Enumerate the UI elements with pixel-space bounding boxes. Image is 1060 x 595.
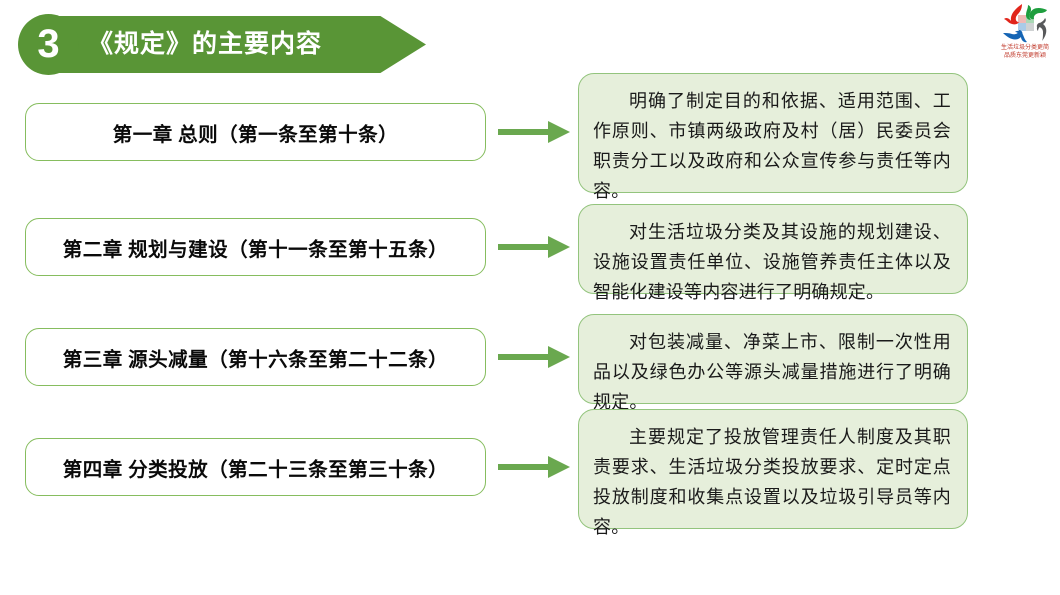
- arrow-head: [548, 456, 570, 478]
- arrow-shaft: [498, 464, 554, 470]
- description-text-3: 对包装减量、净菜上市、限制一次性用品以及绿色办公等源头减量措施进行了明确规定。: [593, 327, 951, 417]
- chapter-box-2[interactable]: 第二章 规划与建设（第十一条至第十五条）: [25, 218, 486, 276]
- description-text-4: 主要规定了投放管理责任人制度及其职责要求、生活垃圾分类投放要求、定时定点投放制度…: [593, 422, 951, 542]
- logo-caption-line2: 品质东莞更新颖: [994, 53, 1056, 61]
- right-arrow-icon-2: [498, 236, 572, 258]
- chapter-box-3[interactable]: 第三章 源头减量（第十六条至第二十二条）: [25, 328, 486, 386]
- right-arrow-icon-3: [498, 346, 572, 368]
- description-box-2: 对生活垃圾分类及其设施的规划建设、设施设置责任单位、设施管养责任主体以及智能化建…: [578, 204, 968, 294]
- arrow-head: [548, 121, 570, 143]
- right-arrow-icon-4: [498, 456, 572, 478]
- banner-title: 《规定》的主要内容: [88, 16, 322, 73]
- chapter-label-1: 第一章 总则（第一条至第十条）: [113, 118, 398, 147]
- description-text-2: 对生活垃圾分类及其设施的规划建设、设施设置责任单位、设施管养责任主体以及智能化建…: [593, 217, 951, 307]
- chapter-label-2: 第二章 规划与建设（第十一条至第十五条）: [63, 233, 448, 262]
- arrow-shaft: [498, 129, 554, 135]
- banner-number: 3: [18, 14, 79, 75]
- description-box-1: 明确了制定目的和依据、适用范围、工作原则、市镇两级政府及村（居）民委员会职责分工…: [578, 73, 968, 193]
- garbage-classification-logo: 生活垃圾分类更简 品质东莞更新颖: [994, 1, 1056, 63]
- description-box-3: 对包装减量、净菜上市、限制一次性用品以及绿色办公等源头减量措施进行了明确规定。: [578, 314, 968, 404]
- arrow-head: [548, 236, 570, 258]
- arrow-shaft: [498, 354, 554, 360]
- right-arrow-icon-1: [498, 121, 572, 143]
- section-banner: 3 《规定》的主要内容: [18, 16, 456, 73]
- chapter-label-4: 第四章 分类投放（第二十三条至第三十条）: [63, 453, 448, 482]
- logo-caption: 生活垃圾分类更简 品质东莞更新颖: [994, 45, 1056, 60]
- description-text-1: 明确了制定目的和依据、适用范围、工作原则、市镇两级政府及村（居）民委员会职责分工…: [593, 86, 951, 206]
- logo-caption-line1: 生活垃圾分类更简: [994, 45, 1056, 53]
- chapter-box-1[interactable]: 第一章 总则（第一条至第十条）: [25, 103, 486, 161]
- description-box-4: 主要规定了投放管理责任人制度及其职责要求、生活垃圾分类投放要求、定时定点投放制度…: [578, 409, 968, 529]
- logo-pinwheel-icon: [998, 1, 1052, 45]
- chapter-label-3: 第三章 源头减量（第十六条至第二十二条）: [63, 343, 448, 372]
- slide-canvas: 3 《规定》的主要内容 生活垃圾分类更简 品质东莞更新颖 第一章 总则（第一条至…: [0, 0, 1060, 595]
- arrow-shaft: [498, 244, 554, 250]
- arrow-head: [548, 346, 570, 368]
- chapter-box-4[interactable]: 第四章 分类投放（第二十三条至第三十条）: [25, 438, 486, 496]
